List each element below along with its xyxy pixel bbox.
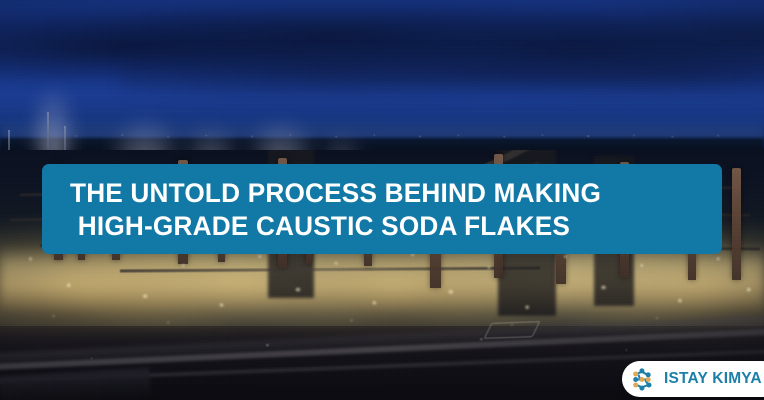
brand-name: ISTAY KIMYA [664, 370, 762, 388]
title-banner: THE UNTOLD PROCESS BEHIND MAKING HIGH-GR… [42, 164, 722, 254]
ground-marking [484, 321, 541, 339]
page-title-line-2: HIGH-GRADE CAUSTIC SODA FLAKES [70, 210, 681, 243]
brand-logo-badge[interactable]: ISTAY KIMYA [622, 361, 764, 397]
molecule-network-icon [631, 367, 656, 392]
page-title-line-1: THE UNTOLD PROCESS BEHIND MAKING [70, 177, 681, 210]
cloud-band-lower [120, 52, 764, 98]
hero-banner: THE UNTOLD PROCESS BEHIND MAKING HIGH-GR… [0, 0, 764, 400]
